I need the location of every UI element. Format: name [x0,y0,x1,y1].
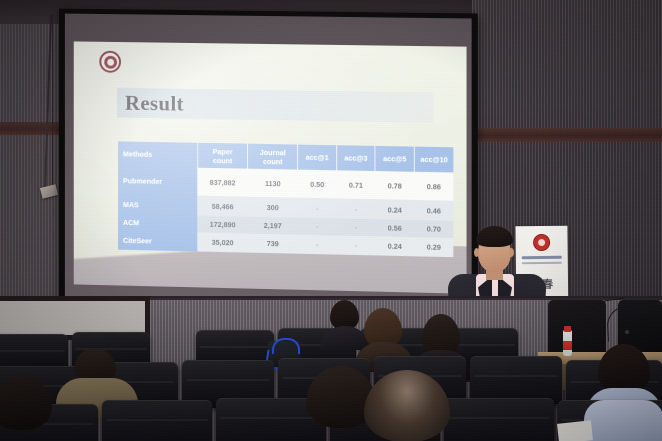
projection-screen-frame: Result Methods Paper count Journ [59,9,478,317]
audience-shoulders [584,400,662,441]
presenter-ear-right [509,248,514,257]
th-acc1: acc@1 [298,145,337,171]
cell-acc3: - [337,218,376,236]
university-logo [99,51,121,73]
cell-journal-count: 739 [248,234,298,254]
cell-journal-count: 2,197 [248,217,298,235]
cell-acc5: 0.24 [375,236,414,256]
th-journal-count: Journal count [248,144,298,170]
cell-acc5: 0.56 [375,219,414,237]
auditorium-seat [470,356,562,404]
cell-paper-count: 172,890 [198,216,248,234]
audience-head [598,344,650,394]
water-bottle-cap [564,326,571,332]
cell-method: ACM [118,214,198,233]
th-paper-count-l1: Paper [213,147,233,156]
water-bottle-label [563,341,572,350]
cell-paper-count: 837,882 [198,168,248,197]
th-journal-count-l2: count [263,156,283,165]
cell-acc10: 0.46 [414,200,453,221]
wall-accent-band-right [472,128,662,142]
cell-method: Pubmender [118,166,198,195]
presentation-photo: Result Methods Paper count Journ [0,0,662,441]
cell-acc3: 0.71 [337,170,376,199]
cell-acc1: 0.50 [298,170,337,199]
presenter-hair [476,226,513,247]
th-acc10: acc@10 [414,147,453,173]
th-methods: Methods [118,141,198,167]
th-paper-count: Paper count [198,143,248,169]
cell-method: CiteSeer [118,231,198,252]
cell-acc1: - [298,235,337,255]
hanging-cable-secondary [52,14,53,189]
cell-journal-count: 300 [248,197,298,218]
th-acc5: acc@5 [375,146,414,172]
results-table: Methods Paper count Journal count acc@1 … [118,141,453,257]
microphone-head [625,330,629,334]
cell-acc10: 0.70 [414,220,453,238]
cell-acc10: 0.29 [414,237,453,257]
th-acc3: acc@3 [337,145,376,171]
th-journal-count-l1: Journal [260,147,286,156]
slide-title: Result [125,88,184,119]
presenter-ear-left [474,248,479,257]
projected-slide: Result Methods Paper count Journ [74,41,467,293]
logo-mark [104,55,117,68]
cell-acc5: 0.24 [375,199,414,220]
cell-acc3: - [337,236,376,256]
cell-acc10: 0.86 [414,172,453,201]
th-paper-count-l2: count [213,156,232,165]
cell-method: MAS [118,194,198,216]
cell-acc5: 0.78 [375,171,414,200]
paper-sheet [557,420,593,441]
cell-acc1: - [298,198,337,219]
audience-member [0,376,72,441]
audience-member [358,370,468,441]
audience-member [584,392,662,441]
cell-paper-count: 58,466 [198,196,248,217]
auditorium-seat [102,400,212,441]
audience-head [0,376,52,430]
cell-paper-count: 35,020 [198,233,248,253]
cell-acc1: - [298,218,337,236]
cell-journal-count: 1130 [248,169,298,198]
cell-acc3: - [337,198,376,219]
audience-head-balding [364,370,450,441]
